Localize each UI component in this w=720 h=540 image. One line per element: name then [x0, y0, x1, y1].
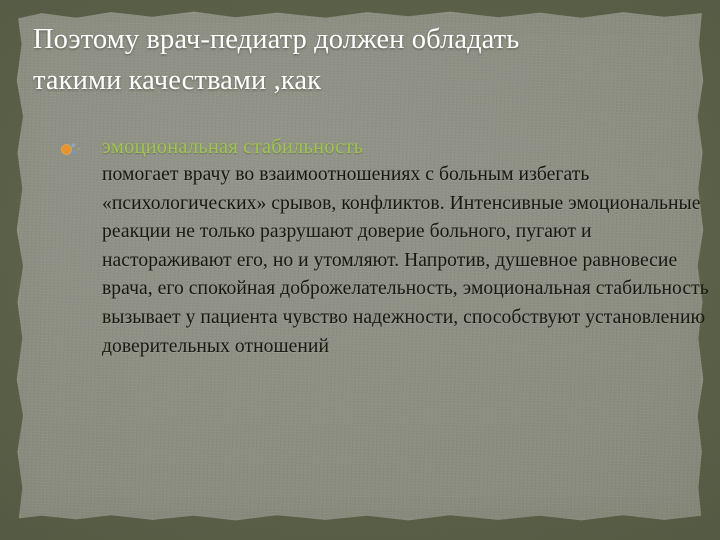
- slide-body: эмоциональная стабильность помогает врач…: [56, 133, 676, 361]
- slide-title: Поэтому врач-педиатр должен обладать так…: [33, 19, 553, 101]
- decorative-dot-cluster-bullet-icon: [60, 141, 82, 159]
- bullet-list-item: эмоциональная стабильность: [56, 133, 676, 161]
- bullet-lead-text: эмоциональная стабильность: [102, 133, 676, 161]
- bullet-body-paragraph: помогает врачу во взаимоотношениях с бол…: [56, 161, 714, 361]
- slide-content: Поэтому врач-педиатр должен обладать так…: [0, 0, 720, 540]
- presentation-slide: Поэтому врач-педиатр должен обладать так…: [0, 0, 720, 540]
